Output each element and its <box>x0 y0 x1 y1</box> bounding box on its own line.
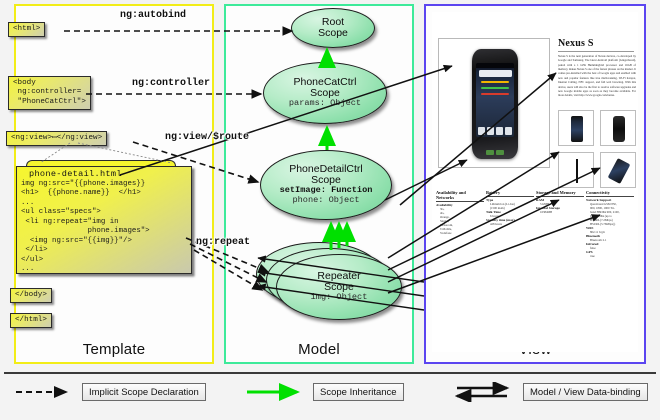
thumbnail-phone-side[interactable] <box>558 152 594 188</box>
phone-hardware-buttons <box>478 150 512 155</box>
spec-value: 16384MB <box>536 210 584 214</box>
thumbnail-phone-back[interactable] <box>600 110 636 146</box>
panel-template-label: Template <box>16 341 212 358</box>
legend-item-scope-inheritance: Scope Inheritance <box>245 382 404 402</box>
view-spec-table: Availability and Networks Availability 3… <box>436 190 634 258</box>
spec-heading-connectivity: Connectivity <box>586 190 634 197</box>
spec-col-connectivity: Connectivity Network Support Quad-band G… <box>586 190 634 258</box>
panel-model-label: Model <box>226 341 412 358</box>
legend-label-scope-inheritance: Scope Inheritance <box>313 383 404 401</box>
spec-heading-storage: Storage and Memory <box>536 190 584 197</box>
angular-scope-diagram: Template Model View <html> <body ng:cont… <box>0 0 660 420</box>
legend: Implicit Scope Declaration Scope Inherit… <box>0 378 660 412</box>
code-card-phone-detail: phone-detail.html img ng:src="{{phone.im… <box>16 166 192 274</box>
code-card-filename: phone-detail.html <box>17 167 191 180</box>
view-phone-description: Nexus S is the next generation of Nexus … <box>558 54 636 104</box>
edge-label-ngview: ng:view/$route <box>165 132 249 143</box>
legend-label-implicit-scope: Implicit Scope Declaration <box>82 383 206 401</box>
thumbnail-phone-front[interactable] <box>558 110 594 146</box>
scope-root-name: RootScope <box>318 17 348 39</box>
phone-statusbar <box>476 63 514 68</box>
spec-value: true <box>586 254 634 258</box>
phone-hero-image-frame <box>438 38 550 168</box>
legend-item-implicit-scope: Implicit Scope Declaration <box>14 382 206 402</box>
spec-heading-availability: Availability and Networks <box>436 190 484 202</box>
phone-screen-line-3 <box>481 93 509 95</box>
scope-phonedetailctrl-name: PhoneDetailCtrlScope <box>289 164 363 186</box>
spec-value: 428 hours <box>486 222 534 226</box>
template-ngview-tag: <ng:view>▭</ng:view> <box>6 131 107 146</box>
view-phone-title: Nexus S <box>558 38 594 49</box>
edge-label-controller: ng:controller <box>132 78 210 89</box>
scope-phonedetailctrl-field-phone: phone: Object <box>292 196 359 206</box>
phone-screen-line-1 <box>481 81 509 83</box>
phone-app-dock <box>478 127 512 135</box>
scope-root: RootScope <box>291 8 375 48</box>
scope-repeater: RepeaterScope img: Object <box>276 254 402 320</box>
spec-value: 3G,4G,Orange,Singtel,Swisscom,T-Mobile,V… <box>436 207 484 235</box>
scope-phonecatctrl: PhoneCatCtrlScope params: Object <box>263 62 387 124</box>
phone-device-illustration <box>472 49 518 159</box>
edge-label-ngrepeat: ng:repeat <box>196 237 250 248</box>
phone-screen-line-2 <box>481 87 509 89</box>
edge-label-autobind: ng:autobind <box>120 10 186 21</box>
spec-heading-battery: Battery <box>486 190 534 197</box>
scope-phonecatctrl-field-params: params: Object <box>289 99 361 109</box>
double-arrow-icon <box>455 382 517 402</box>
scope-phonedetailctrl: PhoneDetailCtrlScope setImage: Function … <box>260 150 392 220</box>
spec-value: Quad-band GSM 850,900, 1800, 1900 Tri-ba… <box>586 202 634 226</box>
code-card-source: img ng:src="{{phone.images}} <h1> {{phon… <box>17 180 191 275</box>
template-body-close-tag: </body> <box>10 288 52 303</box>
scope-repeater-field-img: img: Object <box>311 293 368 303</box>
legend-label-data-binding: Model / View Data-binding <box>523 383 648 401</box>
phone-searchbar <box>479 70 512 77</box>
legend-divider <box>4 372 656 374</box>
phone-screen <box>476 63 514 137</box>
template-html-open-tag: <html> <box>8 22 45 37</box>
template-html-close-tag: </html> <box>10 313 52 328</box>
scope-phonecatctrl-name: PhoneCatCtrlScope <box>293 77 356 99</box>
spec-col-battery: Battery Type Lithium Ion (Li-Ion)(1500 m… <box>486 190 534 258</box>
template-body-open-tag: <body ng:controller= "PhoneCatCtrl"> <box>8 76 91 110</box>
spec-col-availability: Availability and Networks Availability 3… <box>436 190 484 258</box>
view-title-divider <box>558 51 634 52</box>
view-rendered-page: Nexus S Nexus S is the next generation o… <box>432 12 638 352</box>
dashed-arrow-icon <box>14 382 76 402</box>
spec-value: Lithium Ion (Li-Ion)(1500 mAh) <box>486 202 534 210</box>
legend-item-data-binding: Model / View Data-binding <box>455 382 648 402</box>
green-arrow-icon <box>245 382 307 402</box>
scope-repeater-name: RepeaterScope <box>317 271 360 293</box>
thumbnail-phone-angled[interactable] <box>600 152 636 188</box>
spec-col-storage: Storage and Memory RAM 512MB Internal St… <box>536 190 584 258</box>
